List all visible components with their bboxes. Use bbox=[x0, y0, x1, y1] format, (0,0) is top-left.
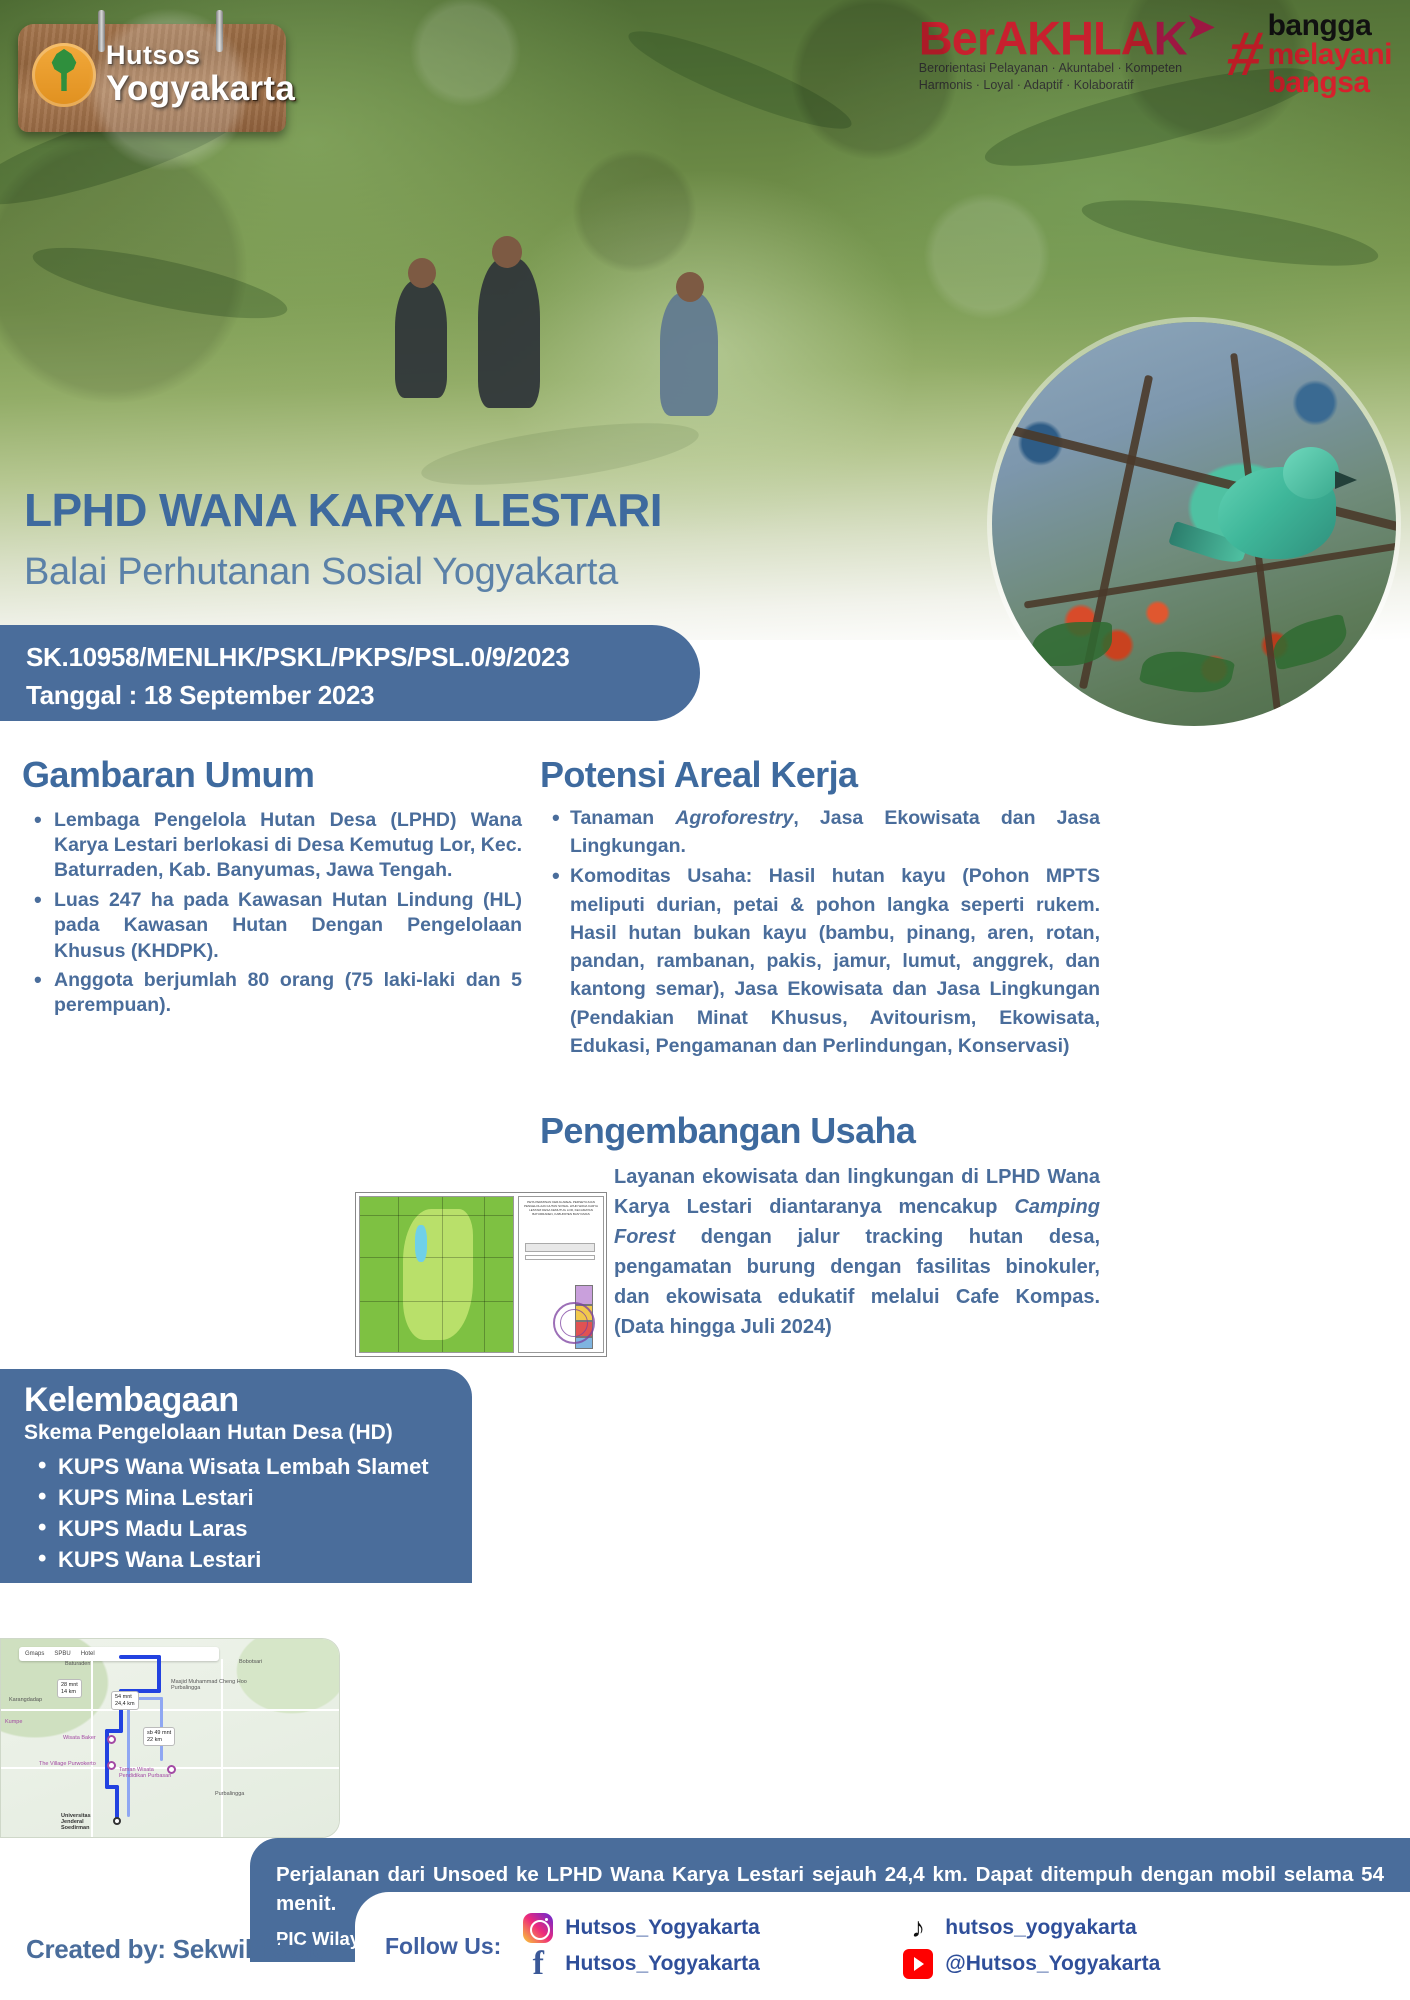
tiktok-handle[interactable]: hutsos_yogyakarta bbox=[945, 1916, 1136, 1940]
berakhlak-core: AKHLA bbox=[994, 12, 1153, 65]
berakhlak-arrow-icon: ➤ bbox=[1187, 8, 1215, 46]
list-item: Anggota berjumlah 80 orang (75 laki-laki… bbox=[22, 968, 522, 1019]
chip-dist: 24,4 km bbox=[115, 1701, 135, 1707]
map-destination-icon[interactable] bbox=[113, 1817, 121, 1825]
social-link-facebook[interactable]: f Hutsos_Yogyakarta bbox=[523, 1949, 853, 1979]
potensi-list: Tanaman Agroforestry, Jasa Ekowisata dan… bbox=[540, 804, 1100, 1060]
youtube-handle[interactable]: @Hutsos_Yogyakarta bbox=[945, 1952, 1160, 1976]
gambaran-umum-list: Lembaga Pengelola Hutan Desa (LPHD) Wana… bbox=[22, 808, 522, 1019]
potensi-item1-emphasis: Agroforestry bbox=[675, 807, 793, 829]
map-pin-icon[interactable] bbox=[107, 1735, 116, 1744]
person-silhouette bbox=[660, 292, 718, 416]
berakhlak-prefix: Ber bbox=[919, 12, 994, 65]
signboard-line1: Hutsos bbox=[106, 42, 295, 69]
follow-us-label: Follow Us: bbox=[385, 1933, 501, 1960]
tiktok-icon: ♪ bbox=[903, 1913, 933, 1943]
bird-beak bbox=[1335, 471, 1357, 489]
map-search-spbu[interactable]: SPBU bbox=[54, 1651, 70, 1657]
person-head bbox=[408, 258, 436, 288]
map-label: Baturaden bbox=[65, 1661, 90, 1667]
kawasan-map-title: PETA PERIZINAN KERJA AREAL PERSETUJUAN P… bbox=[519, 1200, 603, 1216]
page-title: LPHD WANA KARYA LESTARI bbox=[24, 486, 684, 534]
bangga-melayani-bangsa-logo: # bangga melayani bangsa bbox=[1228, 12, 1392, 98]
kelembagaan-heading: Kelembagaan bbox=[24, 1383, 454, 1419]
list-item: KUPS Wana Wisata Lembah Slamet bbox=[24, 1451, 454, 1482]
official-stamp-icon bbox=[553, 1302, 595, 1344]
berakhlak-tagline-1: Berorientasi Pelayanan · Akuntabel · Kom… bbox=[919, 61, 1214, 77]
map-search-hotel[interactable]: Hotel bbox=[81, 1651, 95, 1657]
list-item: Komoditas Usaha: Hasil hutan kayu (Pohon… bbox=[540, 862, 1100, 1060]
social-link-tiktok[interactable]: ♪ hutsos_yogyakarta bbox=[903, 1913, 1233, 1943]
pengembangan-heading: Pengembangan Usaha bbox=[540, 1112, 1100, 1150]
map-label: Taman Wisata Pendidikan Purbasari bbox=[119, 1767, 179, 1779]
social-link-youtube[interactable]: @Hutsos_Yogyakarta bbox=[903, 1949, 1233, 1979]
chip-time: 28 mnt bbox=[61, 1682, 78, 1688]
list-item: KUPS Wana Lestari bbox=[24, 1544, 454, 1575]
chip-time: sb 49 mnt bbox=[147, 1730, 171, 1736]
hutsos-signboard-logo: Hutsos Yogyakarta bbox=[18, 24, 286, 132]
section-kelembagaan: Kelembagaan Skema Pengelolaan Hutan Desa… bbox=[0, 1369, 472, 1583]
section-gambaran-umum: Gambaran Umum Lembaga Pengelola Hutan De… bbox=[22, 756, 522, 1023]
person-silhouette bbox=[395, 280, 447, 398]
bangga-line2: melayani bbox=[1268, 41, 1392, 70]
potensi-heading: Potensi Areal Kerja bbox=[540, 756, 1100, 794]
youtube-icon bbox=[903, 1949, 933, 1979]
pengembangan-body: Layanan ekowisata dan lingkungan di LPHD… bbox=[614, 1162, 1100, 1342]
map-label: Kumpe bbox=[5, 1719, 22, 1725]
instagram-handle[interactable]: Hutsos_Yogyakarta bbox=[565, 1916, 760, 1940]
gov-logo-group: BerAKHLAK➤ Berorientasi Pelayanan · Akun… bbox=[919, 12, 1392, 98]
list-item: Lembaga Pengelola Hutan Desa (LPHD) Wana… bbox=[22, 808, 522, 884]
social-link-instagram[interactable]: Hutsos_Yogyakarta bbox=[523, 1913, 853, 1943]
kawasan-map-legend: PETA PERIZINAN KERJA AREAL PERSETUJUAN P… bbox=[518, 1196, 604, 1353]
map-label: Purbalingga bbox=[215, 1791, 244, 1797]
map-label: Masjid Muhammad Cheng Hoo Purbalingga bbox=[171, 1679, 257, 1691]
list-item: KUPS Mina Lestari bbox=[24, 1482, 454, 1513]
map-label: Universitas Jenderal Soedirman bbox=[61, 1813, 113, 1831]
signboard-line2: Yogyakarta bbox=[106, 71, 295, 108]
map-pin-icon[interactable] bbox=[107, 1761, 116, 1770]
sk-decree-banner: SK.10958/MENLHK/PSKL/PKPS/PSL.0/9/2023 T… bbox=[0, 625, 700, 721]
bird-photo-circle bbox=[992, 322, 1396, 726]
potensi-item1-pre: Tanaman bbox=[570, 807, 675, 829]
map-search-bar[interactable]: Gmaps SPBU Hotel bbox=[19, 1647, 219, 1661]
kelembagaan-list: KUPS Wana Wisata Lembah Slamet KUPS Mina… bbox=[24, 1451, 454, 1576]
list-item: KUPS Madu Laras bbox=[24, 1513, 454, 1544]
page-subtitle: Balai Perhutanan Sosial Yogyakarta bbox=[24, 551, 704, 595]
map-label: The Village Purwokerto bbox=[39, 1761, 96, 1767]
pengembangan-body-post: dengan jalur tracking hutan desa, pengam… bbox=[614, 1226, 1100, 1338]
social-media-card: Follow Us: Hutsos_Yogyakarta ♪ hutsos_yo… bbox=[355, 1892, 1410, 2000]
section-pengembangan-usaha: Pengembangan Usaha Layanan ekowisata dan… bbox=[540, 1112, 1100, 1342]
kawasan-map-image: PETA PERIZINAN KERJA AREAL PERSETUJUAN P… bbox=[355, 1192, 607, 1357]
sk-date: Tanggal : 18 September 2023 bbox=[26, 677, 700, 715]
facebook-icon: f bbox=[523, 1949, 553, 1979]
route-time-chip: 28 mnt 14 km bbox=[57, 1679, 82, 1698]
berakhlak-k: K bbox=[1154, 12, 1187, 65]
route-time-chip: sb 49 mnt 22 km bbox=[143, 1727, 175, 1746]
route-map-image: Gmaps SPBU Hotel 28 mnt 14 km 54 mnt 24,… bbox=[0, 1638, 340, 1838]
map-label: Karangdadap bbox=[9, 1697, 42, 1703]
route-time-chip: 54 mnt 24,4 km bbox=[111, 1691, 139, 1710]
bird-head bbox=[1283, 447, 1339, 499]
kelembagaan-skema: Skema Pengelolaan Hutan Desa (HD) bbox=[24, 1421, 454, 1445]
chip-dist: 22 km bbox=[147, 1737, 162, 1743]
chain-link-icon bbox=[98, 10, 105, 52]
person-silhouette bbox=[478, 258, 540, 408]
instagram-icon bbox=[523, 1913, 553, 1943]
section-potensi-areal-kerja: Potensi Areal Kerja Tanaman Agroforestry… bbox=[540, 756, 1100, 1062]
sk-number: SK.10958/MENLHK/PSKL/PKPS/PSL.0/9/2023 bbox=[26, 639, 700, 677]
map-search-gmaps[interactable]: Gmaps bbox=[25, 1651, 44, 1657]
map-label: Wisata Baker bbox=[63, 1735, 96, 1741]
list-item: Tanaman Agroforestry, Jasa Ekowisata dan… bbox=[540, 804, 1100, 861]
person-head bbox=[676, 272, 704, 302]
facebook-handle[interactable]: Hutsos_Yogyakarta bbox=[565, 1952, 760, 1976]
list-item: Luas 247 ha pada Kawasan Hutan Lindung (… bbox=[22, 888, 522, 964]
hashtag-icon: # bbox=[1224, 30, 1267, 80]
bangga-line1: bangga bbox=[1268, 12, 1392, 41]
tree-logo-icon bbox=[32, 43, 96, 107]
chip-time: 54 mnt bbox=[115, 1694, 132, 1700]
bangga-line3: bangsa bbox=[1268, 69, 1392, 98]
gambaran-umum-heading: Gambaran Umum bbox=[22, 756, 522, 794]
chain-link-icon bbox=[216, 10, 223, 52]
chip-dist: 14 km bbox=[61, 1689, 76, 1695]
kawasan-map-panel bbox=[359, 1196, 514, 1353]
berakhlak-tagline-2: Harmonis · Loyal · Adaptif · Kolaboratif bbox=[919, 78, 1214, 94]
created-by-label: Created by: Sekwil I Solo bbox=[26, 1934, 328, 1965]
map-label: Bobotsari bbox=[239, 1659, 262, 1665]
person-head bbox=[492, 236, 522, 268]
berakhlak-logo: BerAKHLAK➤ Berorientasi Pelayanan · Akun… bbox=[919, 12, 1214, 93]
poster-root: Hutsos Yogyakarta BerAKHLAK➤ Berorientas… bbox=[0, 0, 1410, 2000]
